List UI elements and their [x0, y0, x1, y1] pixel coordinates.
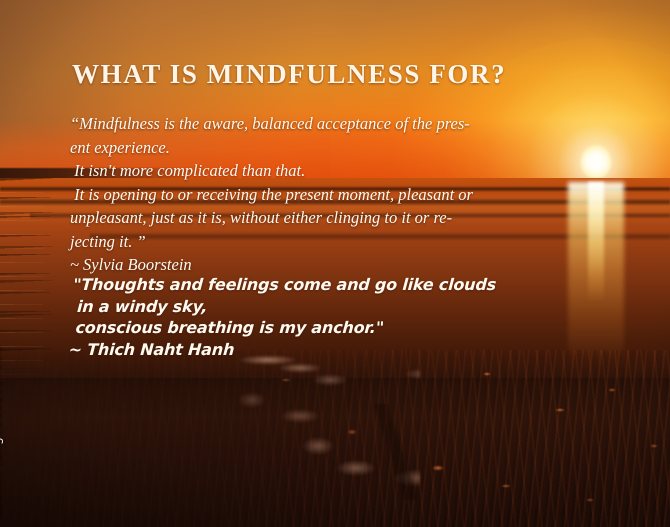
quote-attribution: ~ Thich Naht Hanh	[68, 339, 540, 361]
poster-content: WHAT IS MINDFULNESS FOR? “Mindfulness is…	[0, 0, 670, 527]
quote-line: It is opening to or receiving the presen…	[70, 183, 560, 207]
quote-thich-naht-hanh: "Thoughts and feelings come and go like …	[68, 274, 544, 360]
quote-line: "Thoughts and feelings come and go like …	[72, 274, 544, 296]
quote-attribution: ~ Sylvia Boorstein	[70, 253, 560, 277]
quote-line: It isn't more complicated than that.	[70, 159, 560, 183]
quote-line: “Mindfulness is the aware, balanced acce…	[70, 112, 560, 136]
quote-line: conscious breathing is my anchor."	[69, 317, 541, 339]
page-title: WHAT IS MINDFULNESS FOR?	[72, 59, 602, 90]
quote-line: jecting it. ”	[70, 230, 560, 254]
quote-line: ent experience.	[70, 136, 560, 160]
mindfulness-quote-poster: WHAT IS MINDFULNESS FOR? “Mindfulness is…	[0, 0, 670, 527]
quote-line: unpleasant, just as it is, without eithe…	[70, 206, 560, 230]
quote-boorstein: “Mindfulness is the aware, balanced acce…	[70, 112, 560, 277]
quote-line: in a windy sky,	[71, 296, 543, 318]
site-watermark: CounselingTidBits.com	[0, 346, 4, 519]
